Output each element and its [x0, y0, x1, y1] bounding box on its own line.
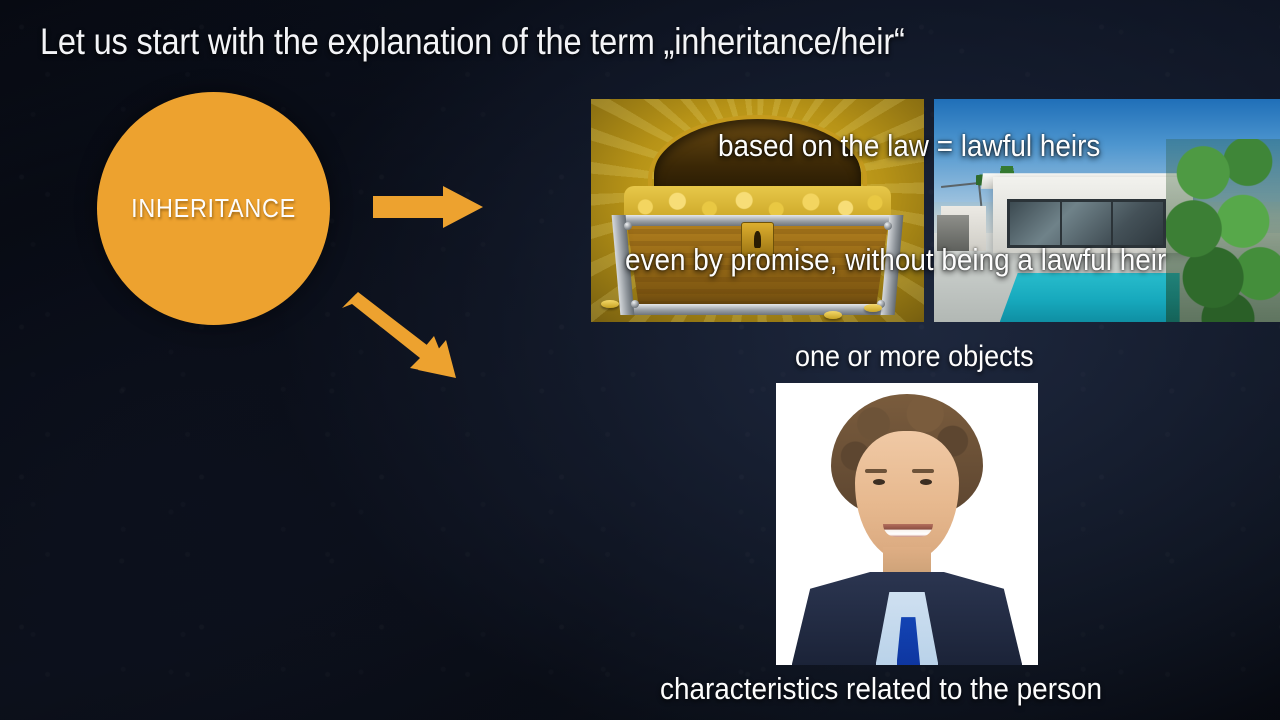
page-title: Let us start with the explanation of the… — [40, 21, 1096, 64]
chest-stud — [631, 300, 639, 308]
swimming-pool — [1000, 273, 1180, 322]
portrait-face — [855, 431, 960, 561]
arrow-down-right-icon — [338, 292, 458, 378]
portrait-smile — [883, 524, 933, 537]
caption-lawful-heirs: based on the law = lawful heirs — [718, 128, 1100, 164]
chest-stud — [884, 222, 892, 230]
portrait-eyebrow — [865, 469, 887, 473]
caption-by-promise: even by promise, without being a lawful … — [625, 242, 1166, 278]
foliage — [1166, 139, 1280, 322]
portrait-eye — [873, 479, 885, 485]
arrow-right-icon — [373, 186, 483, 228]
slide-canvas: Let us start with the explanation of the… — [0, 0, 1280, 720]
inheritance-node: INHERITANCE — [97, 92, 330, 325]
loose-coin — [824, 311, 842, 319]
caption-objects: one or more objects — [795, 340, 1034, 374]
chest-stud — [624, 222, 632, 230]
caption-person: characteristics related to the person — [660, 671, 1102, 707]
loose-coin — [601, 300, 619, 308]
person-portrait-image — [776, 383, 1038, 665]
inheritance-node-label: INHERITANCE — [131, 193, 296, 224]
portrait-eye — [920, 479, 932, 485]
chest-band-bottom — [621, 304, 894, 315]
portrait-eyebrow — [912, 469, 934, 473]
